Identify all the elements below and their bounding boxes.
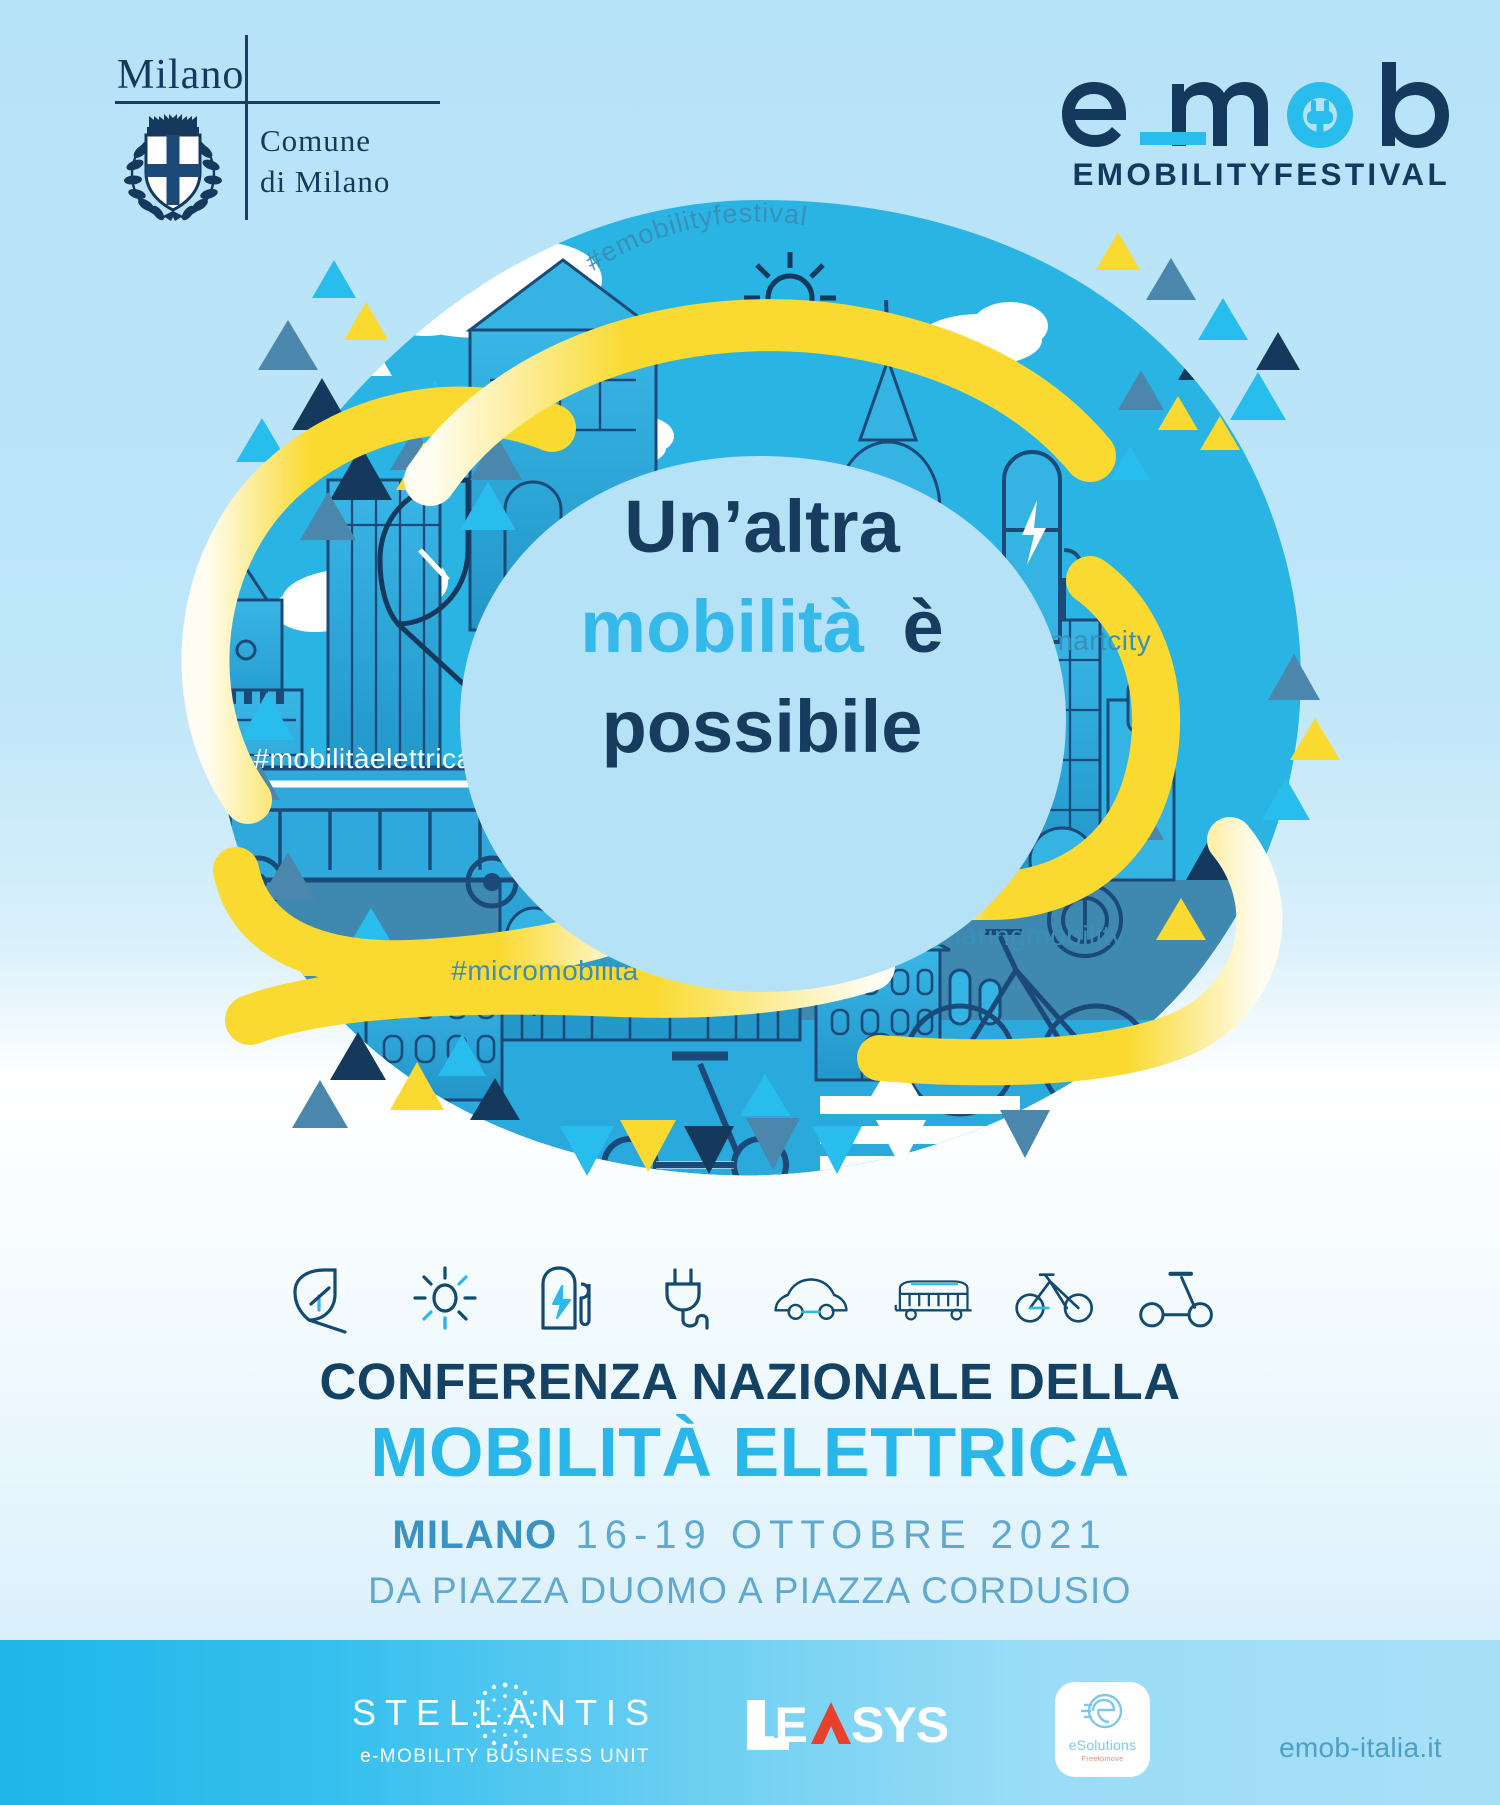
conference-title: CONFERENZA NAZIONALE DELLA [0,1355,1500,1409]
conference-text-block: CONFERENZA NAZIONALE DELLA MOBILITÀ ELET… [0,1355,1500,1612]
leasys-wordmark-sys: SYS [851,1697,948,1753]
leaf-icon [283,1262,363,1334]
bicycle-icon [1015,1262,1095,1334]
esolutions-tagline: Freetomove [1055,1754,1150,1763]
conference-city: MILANO [392,1513,557,1557]
poster-canvas: Milano Comune di Milano [0,0,1500,1805]
illustration-svg: #emobilityfestival #smartcity #mobilitàe… [0,180,1500,1180]
conference-venue: DA PIAZZA DUOMO A PIAZZA CORDUSIO [0,1570,1500,1612]
esolutions-name: eSolutions [1055,1737,1150,1753]
esolutions-logo: eSolutions Freetomove [1055,1682,1150,1777]
conference-date-line: MILANO 16-19 OTTOBRE 2021 [0,1513,1500,1558]
conference-dates: 16-19 OTTOBRE 2021 [575,1513,1107,1557]
emob-wordmark [1052,62,1452,154]
emob-festival-logo: EMOBILITYFESTIVAL [1052,62,1452,192]
leasys-wordmark-le: LE [745,1697,807,1753]
conference-subject: MOBILITÀ ELETTRICA [0,1413,1500,1491]
bus-icon [893,1262,973,1334]
logo-horizontal-divider [115,101,440,104]
stellantis-logo: STELLANTIS e-MOBILITY BUSINESS UNIT [350,1684,660,1776]
sponsor-footer: STELLANTIS e-MOBILITY BUSINESS UNIT [0,1640,1500,1805]
festival-url[interactable]: emob-italia.it [1279,1732,1442,1764]
comune-city-label: Milano [117,51,244,99]
hashtag-micromobilita: #micromobilità [451,955,639,986]
sun-icon [405,1262,485,1334]
plug-icon [649,1262,729,1334]
hashtag-mobilitaelettrica: #mobilitàelettrica [253,743,472,774]
festival-illustration: #emobilityfestival #smartcity #mobilitàe… [0,180,1500,1180]
mobility-icon-row [0,1255,1500,1340]
headline-line-1: Un’altra [624,485,900,568]
headline-e: è [903,585,944,668]
comune-line-1: Comune [260,123,371,158]
charging-station-icon [527,1262,607,1334]
stellantis-dot-mark-icon [464,1676,546,1758]
leasys-logo: LE SYS [745,1696,965,1754]
scooter-icon [1137,1262,1217,1334]
headline-line-3: possibile [602,685,923,768]
headline-mobilita: mobilità [580,585,865,668]
esolutions-mark-icon [1079,1691,1127,1733]
car-icon [771,1262,851,1334]
